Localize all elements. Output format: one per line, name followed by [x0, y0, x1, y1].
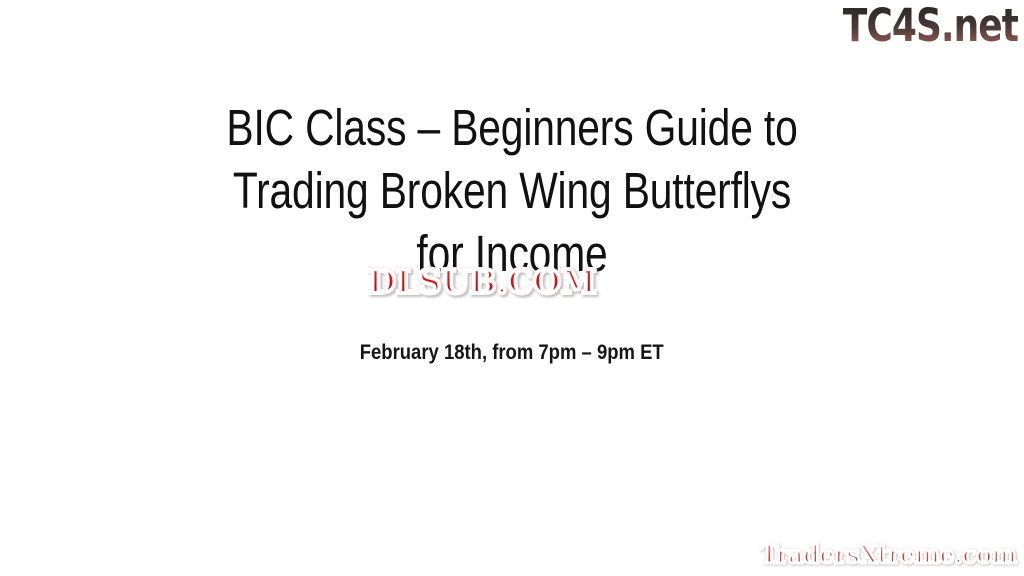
presentation-slide: TC4S.net BIC Class – Beginners Guide to …: [0, 0, 1024, 576]
title-line-1: BIC Class – Beginners Guide to: [192, 96, 832, 159]
tradersxtreme-logo-watermark: TradersXtreme.com: [760, 540, 1016, 570]
slide-subtitle: February 18th, from 7pm – 9pm ET: [112, 339, 912, 366]
title-line-2: Trading Broken Wing Butterflys: [192, 159, 832, 222]
subtitle-text: February 18th, from 7pm – 9pm ET: [360, 339, 664, 366]
dlsub-com-watermark: DLSUB.COM: [368, 263, 596, 301]
slide-title: BIC Class – Beginners Guide to Trading B…: [112, 96, 912, 285]
tc4s-logo-watermark: TC4S.net: [843, 2, 1018, 50]
